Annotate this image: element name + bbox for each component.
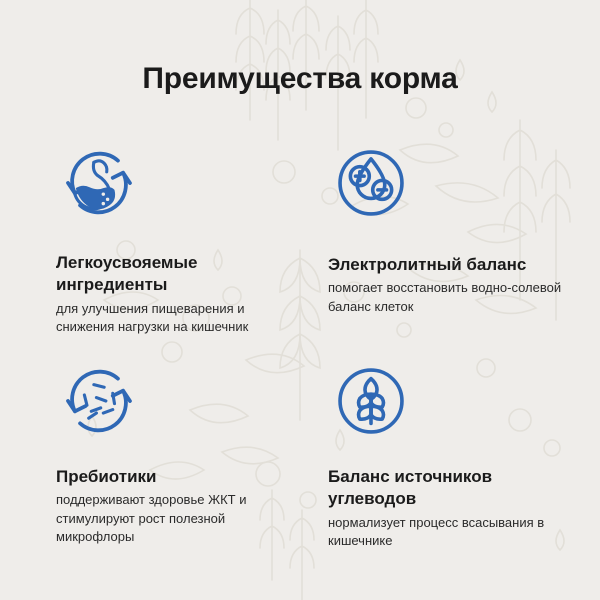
feature-card-carbohydrate-balance: Баланс источников углеводов нормализует … (328, 358, 573, 551)
feature-title: Пребиотики (56, 466, 301, 488)
feature-description: нормализует процесс всасывания в кишечни… (328, 511, 573, 551)
wheat-ear-icon (328, 358, 414, 444)
feature-title: Легкоусвояемые ингредиенты (56, 252, 301, 297)
stomach-cycle-icon (56, 140, 142, 226)
infographic-page: Преимущества корма Легкоусвояемые ингред… (0, 0, 600, 600)
feature-description: поддерживают здоровье ЖКТ и стимулируют … (56, 488, 301, 546)
bacteria-cycle-icon (56, 358, 142, 444)
feature-title: Баланс источников углеводов (328, 466, 573, 511)
feature-description: для улучшения пищеварения и снижения наг… (56, 297, 301, 337)
water-drop-plus-minus-icon (328, 140, 414, 226)
feature-card-electrolyte-balance: Электролитный баланс помогает восстанови… (328, 140, 573, 316)
feature-card-prebiotics: Пребиотики поддерживают здоровье ЖКТ и с… (56, 358, 301, 547)
page-title: Преимущества корма (0, 62, 600, 96)
feature-description: помогает восстановить водно-солевой бала… (328, 276, 573, 316)
feature-card-easily-digestible: Легкоусвояемые ингредиенты для улучшения… (56, 140, 301, 337)
feature-title: Электролитный баланс (328, 254, 573, 276)
